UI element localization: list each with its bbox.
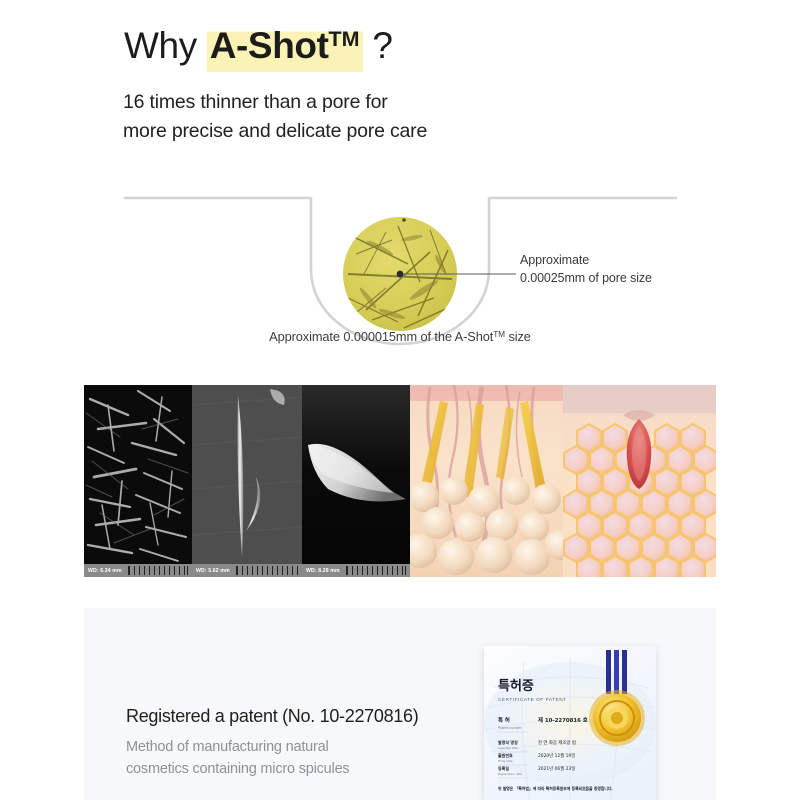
certificate-ribbon (606, 650, 627, 694)
certificate-row-label-4: 등록일 (498, 765, 509, 771)
sem-wd-label: WD: 6.34 mm (84, 568, 122, 574)
panel-sem-spicule-tip: WD: 8.28 mm (302, 385, 410, 577)
certificate-row-value-1: 제 10-2270816 호 (538, 716, 588, 724)
measure-point (397, 271, 404, 278)
caption-text-before: Approximate 0.000015mm of the A-Shot (269, 329, 493, 344)
subtitle-line-1: 16 times thinner than a pore for (123, 88, 427, 117)
sem-wd-label: WD: 5.62 mm (192, 568, 230, 574)
certificate-title-en: CERTIFICATE OF PATENT (498, 697, 567, 702)
headline-brand-highlight: A-ShotTM (207, 25, 363, 72)
subtitle-line-2: more precise and delicate pore care (123, 117, 427, 146)
page-subtitle: 16 times thinner than a pore for more pr… (123, 88, 427, 146)
panel-skin-cross-section (410, 385, 563, 577)
caption-text-after: size (505, 329, 531, 344)
headline-brand: A-Shot (210, 25, 329, 66)
certificate-title-ko: 특허증 (498, 678, 534, 694)
pore-diagram-svg (0, 178, 800, 353)
microscopy-image-strip: WD: 6.34 mm (84, 385, 716, 577)
certificate-row-label-2: 발명의 명칭 (498, 739, 518, 745)
certificate-row-label-3: 출원번호 (498, 752, 513, 758)
svg-text:Registration date: Registration date (498, 772, 522, 776)
diagram-caption: Approximate 0.000015mm of the A-ShotTM s… (0, 329, 800, 344)
certificate-row-value-2: 천 연 화장 제조방 법 (538, 739, 576, 746)
sem-ruler (346, 566, 406, 575)
sem-ruler (236, 566, 298, 575)
promo-page: Why A-ShotTM ? 16 times thinner than a p… (0, 0, 800, 800)
trademark-symbol: TM (329, 27, 360, 51)
panel-sem-spicule-single: WD: 5.62 mm (192, 385, 302, 577)
panel-sem-spicule-field: WD: 6.34 mm (84, 385, 192, 577)
sem-ruler (128, 566, 188, 575)
pore-diagram (0, 178, 800, 353)
sem-single-graphic (192, 385, 302, 577)
patent-description-line-2: cosmetics containing micro spicules (126, 758, 349, 780)
certificate-row-value-4: 2021년 06월 23일 (538, 765, 575, 772)
certificate-graphic: 특허증 CERTIFICATE OF PATENT 특 허 Patent num… (484, 646, 656, 800)
pore-size-annotation: Approximate 0.00025mm of pore size (520, 251, 652, 287)
svg-text:Patent number: Patent number (498, 726, 522, 730)
headline-suffix: ? (363, 25, 393, 66)
annotation-line-2: 0.00025mm of pore size (520, 269, 652, 287)
patent-section: Registered a patent (No. 10-2270816) Met… (84, 608, 716, 800)
page-title: Why A-ShotTM ? (124, 16, 393, 69)
certificate-footer-1: 위 발명은 「특허법」에 따라 특허등록원부에 등록되었음을 증명합니다. (498, 786, 613, 791)
sem-scale-bar: WD: 8.28 mm (302, 564, 410, 577)
certificate-row-value-3: 2020년 12월 19일 (538, 752, 575, 759)
patent-description-line-1: Method of manufacturing natural (126, 736, 349, 758)
sem-field-graphic (84, 385, 192, 577)
patent-description: Method of manufacturing natural cosmetic… (126, 736, 349, 780)
sem-tip-graphic (302, 385, 410, 577)
sem-scale-bar: WD: 6.34 mm (84, 564, 192, 577)
skin-pore-hexagon-graphic (563, 385, 716, 577)
patent-title: Registered a patent (No. 10-2270816) (126, 706, 418, 727)
headline-prefix: Why (124, 25, 207, 66)
certificate-seal (589, 690, 645, 746)
sem-scale-bar: WD: 5.62 mm (192, 564, 302, 577)
svg-text:Invention title: Invention title (498, 746, 518, 750)
panel-skin-pore-hexagon (563, 385, 716, 577)
caption-trademark-symbol: TM (493, 329, 505, 339)
sem-wd-label: WD: 8.28 mm (302, 568, 340, 574)
skin-cross-section-graphic (410, 385, 563, 577)
certificate-row-label-1: 특 허 (498, 716, 510, 724)
annotation-line-1: Approximate (520, 251, 652, 269)
svg-text:Filing date: Filing date (498, 759, 513, 763)
patent-certificate-image: 특허증 CERTIFICATE OF PATENT 특 허 Patent num… (484, 646, 656, 800)
